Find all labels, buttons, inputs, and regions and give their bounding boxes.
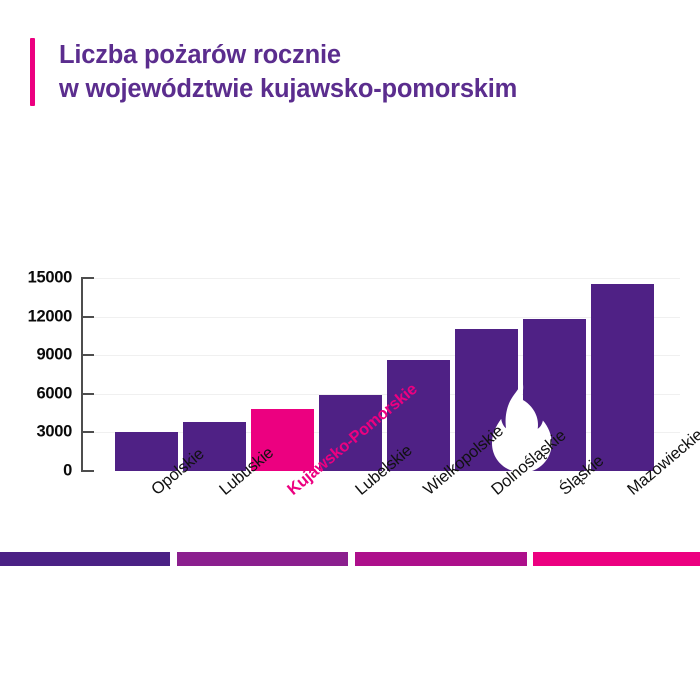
bar-lubuskie[interactable]: [183, 422, 246, 471]
y-axis-tick-label: 3000: [0, 423, 72, 442]
strip-segment-3: [355, 552, 527, 566]
title-accent-bar: [30, 38, 35, 106]
bar-opolskie[interactable]: [115, 432, 178, 471]
bar-lubelskie[interactable]: [319, 395, 382, 471]
y-axis-tick-label: 6000: [0, 384, 72, 403]
bar-chart: 03000600090001200015000 OpolskieLubuskie…: [0, 130, 700, 530]
plot-area: [81, 278, 680, 471]
bottom-color-strip: [0, 552, 700, 566]
infographic-page: Liczba pożarów rocznie w województwie ku…: [0, 0, 700, 566]
title-text: Liczba pożarów rocznie w województwie ku…: [59, 38, 517, 106]
bar-kujawsko-pomorskie[interactable]: [251, 409, 314, 471]
y-axis-tick-label: 15000: [0, 269, 72, 288]
bar-wielkopolskie[interactable]: [387, 360, 450, 471]
title-line-2: w województwie kujawsko-pomorskim: [59, 72, 517, 106]
strip-segment-4: [533, 552, 700, 566]
bar-mazowieckie[interactable]: [591, 284, 654, 471]
y-axis-tick-label: 12000: [0, 307, 72, 326]
strip-segment-2: [177, 552, 348, 566]
bar-dolnośląskie[interactable]: [455, 329, 518, 471]
page-title: Liczba pożarów rocznie w województwie ku…: [30, 38, 517, 106]
bar-śląskie[interactable]: [523, 319, 586, 471]
y-axis-tick-label: 9000: [0, 346, 72, 365]
title-line-1: Liczba pożarów rocznie: [59, 38, 517, 72]
bars-container: [81, 278, 680, 471]
y-axis-tick-label: 0: [0, 462, 72, 481]
strip-segment-1: [0, 552, 170, 566]
